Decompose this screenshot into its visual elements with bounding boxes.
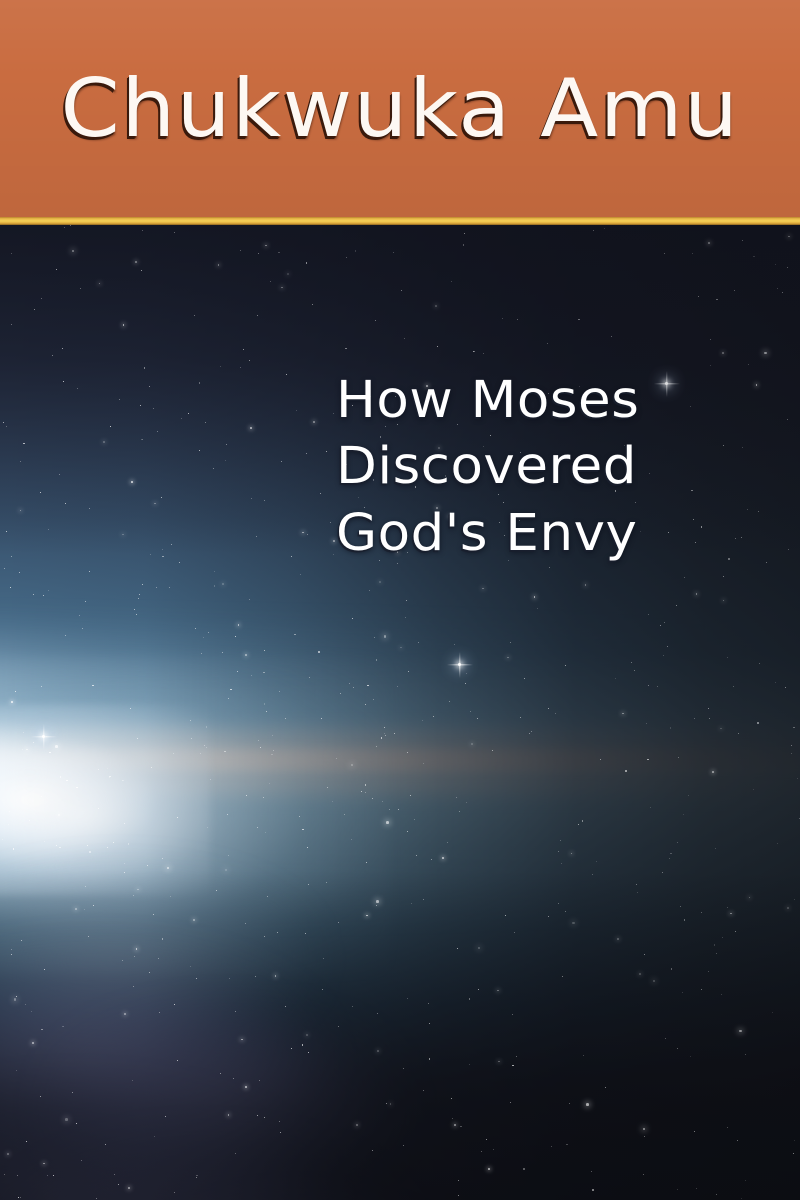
gold-divider-rule [0, 217, 800, 225]
author-name: Chukwuka Amu [0, 0, 800, 217]
title-line-2: Discovered [336, 434, 783, 500]
author-banner: Chukwuka Amu [0, 0, 800, 217]
book-title: How Moses Discovered God's Envy [336, 368, 783, 567]
bright-star [42, 735, 45, 738]
title-line-1: How Moses [336, 368, 783, 434]
book-cover: Chukwuka Amu How Moses Discovered God's … [0, 0, 800, 1200]
bright-star [458, 663, 461, 666]
title-line-3: God's Envy [336, 501, 783, 567]
